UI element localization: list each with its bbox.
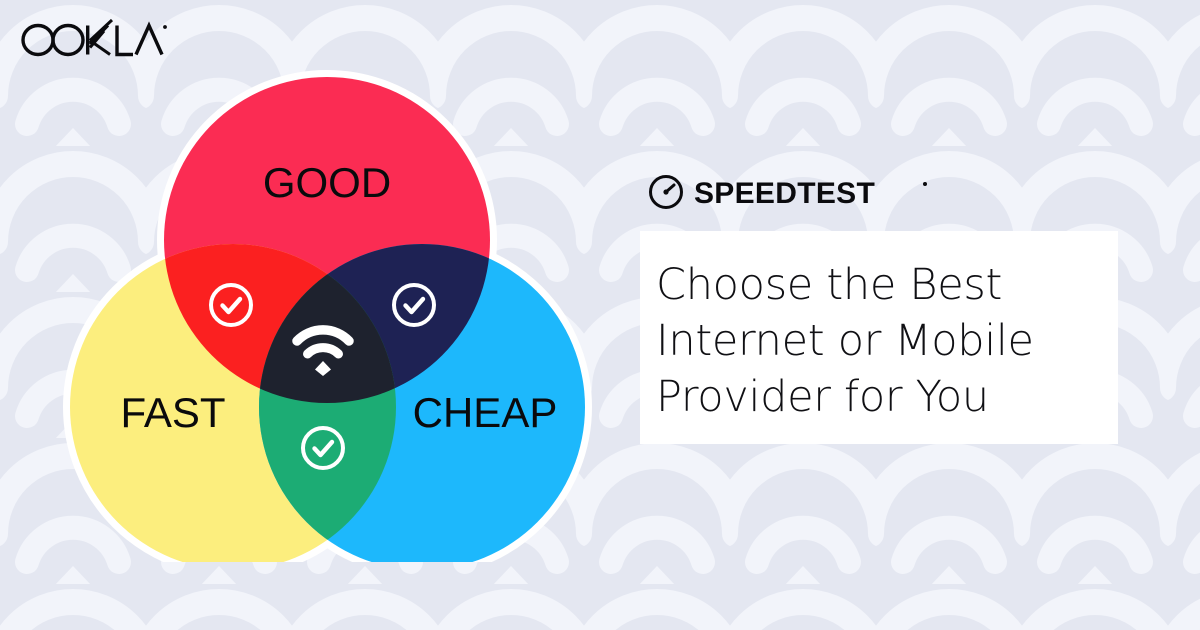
speedtest-logo[interactable]: SPEEDTEST — [648, 174, 938, 210]
speedtest-wordmark: SPEEDTEST — [694, 177, 875, 210]
venn-label-good: GOOD — [263, 159, 391, 206]
venn-label-cheap: CHEAP — [413, 389, 558, 436]
ookla-logo[interactable] — [18, 16, 168, 64]
venn-diagram: GOOD FAST CHEAP — [55, 62, 600, 562]
speedometer-gauge-icon — [651, 177, 682, 208]
headline-card: Choose the Best Internet or Mobile Provi… — [640, 231, 1118, 444]
page-title: Choose the Best Internet or Mobile Provi… — [656, 257, 1084, 425]
poster-canvas: GOOD FAST CHEAP — [0, 0, 1200, 630]
venn-label-fast: FAST — [120, 389, 225, 436]
registered-trademark-icon — [923, 182, 927, 186]
